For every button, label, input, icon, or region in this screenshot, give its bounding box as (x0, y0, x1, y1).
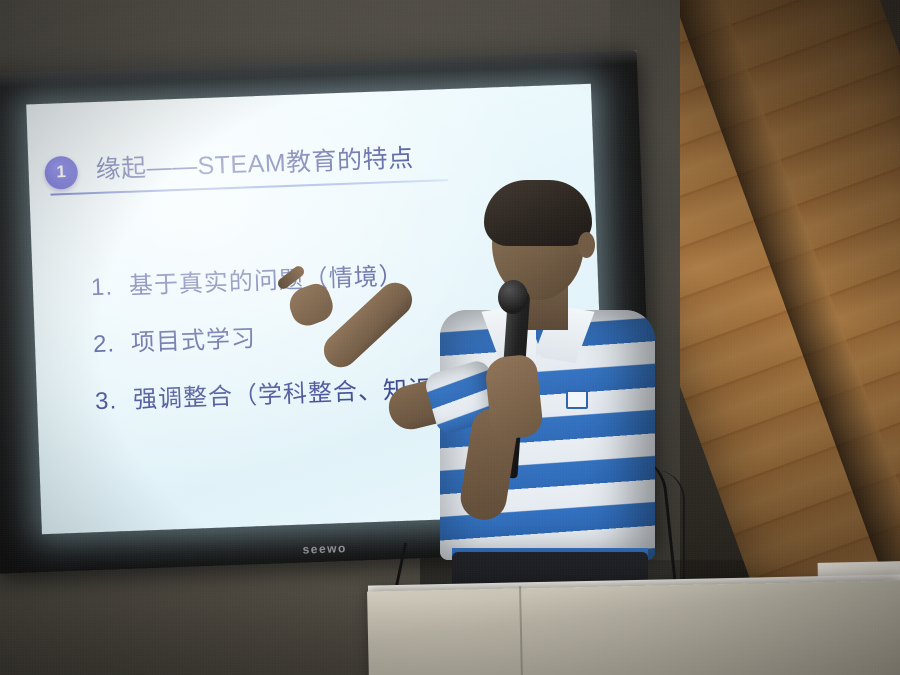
hair (484, 180, 592, 246)
mic-hand (484, 354, 544, 441)
slide-title: 缘起——STEAM教育的特点 (95, 138, 414, 186)
presentation-photo-scene: 1 缘起——STEAM教育的特点 1. 基于真实的问题（情境） 2. 项目式学习… (0, 0, 900, 675)
list-item-number: 2. (93, 330, 120, 359)
list-item-number: 1. (90, 273, 117, 302)
pointing-arm-forearm (317, 276, 419, 375)
slide-number-badge: 1 (44, 155, 78, 189)
shirt-logo-patch (566, 390, 588, 409)
ear (578, 232, 595, 258)
list-item-number: 3. (95, 387, 122, 416)
podium (367, 580, 900, 675)
pointing-hand (285, 280, 337, 330)
list-item-text: 项目式学习 (130, 318, 256, 358)
